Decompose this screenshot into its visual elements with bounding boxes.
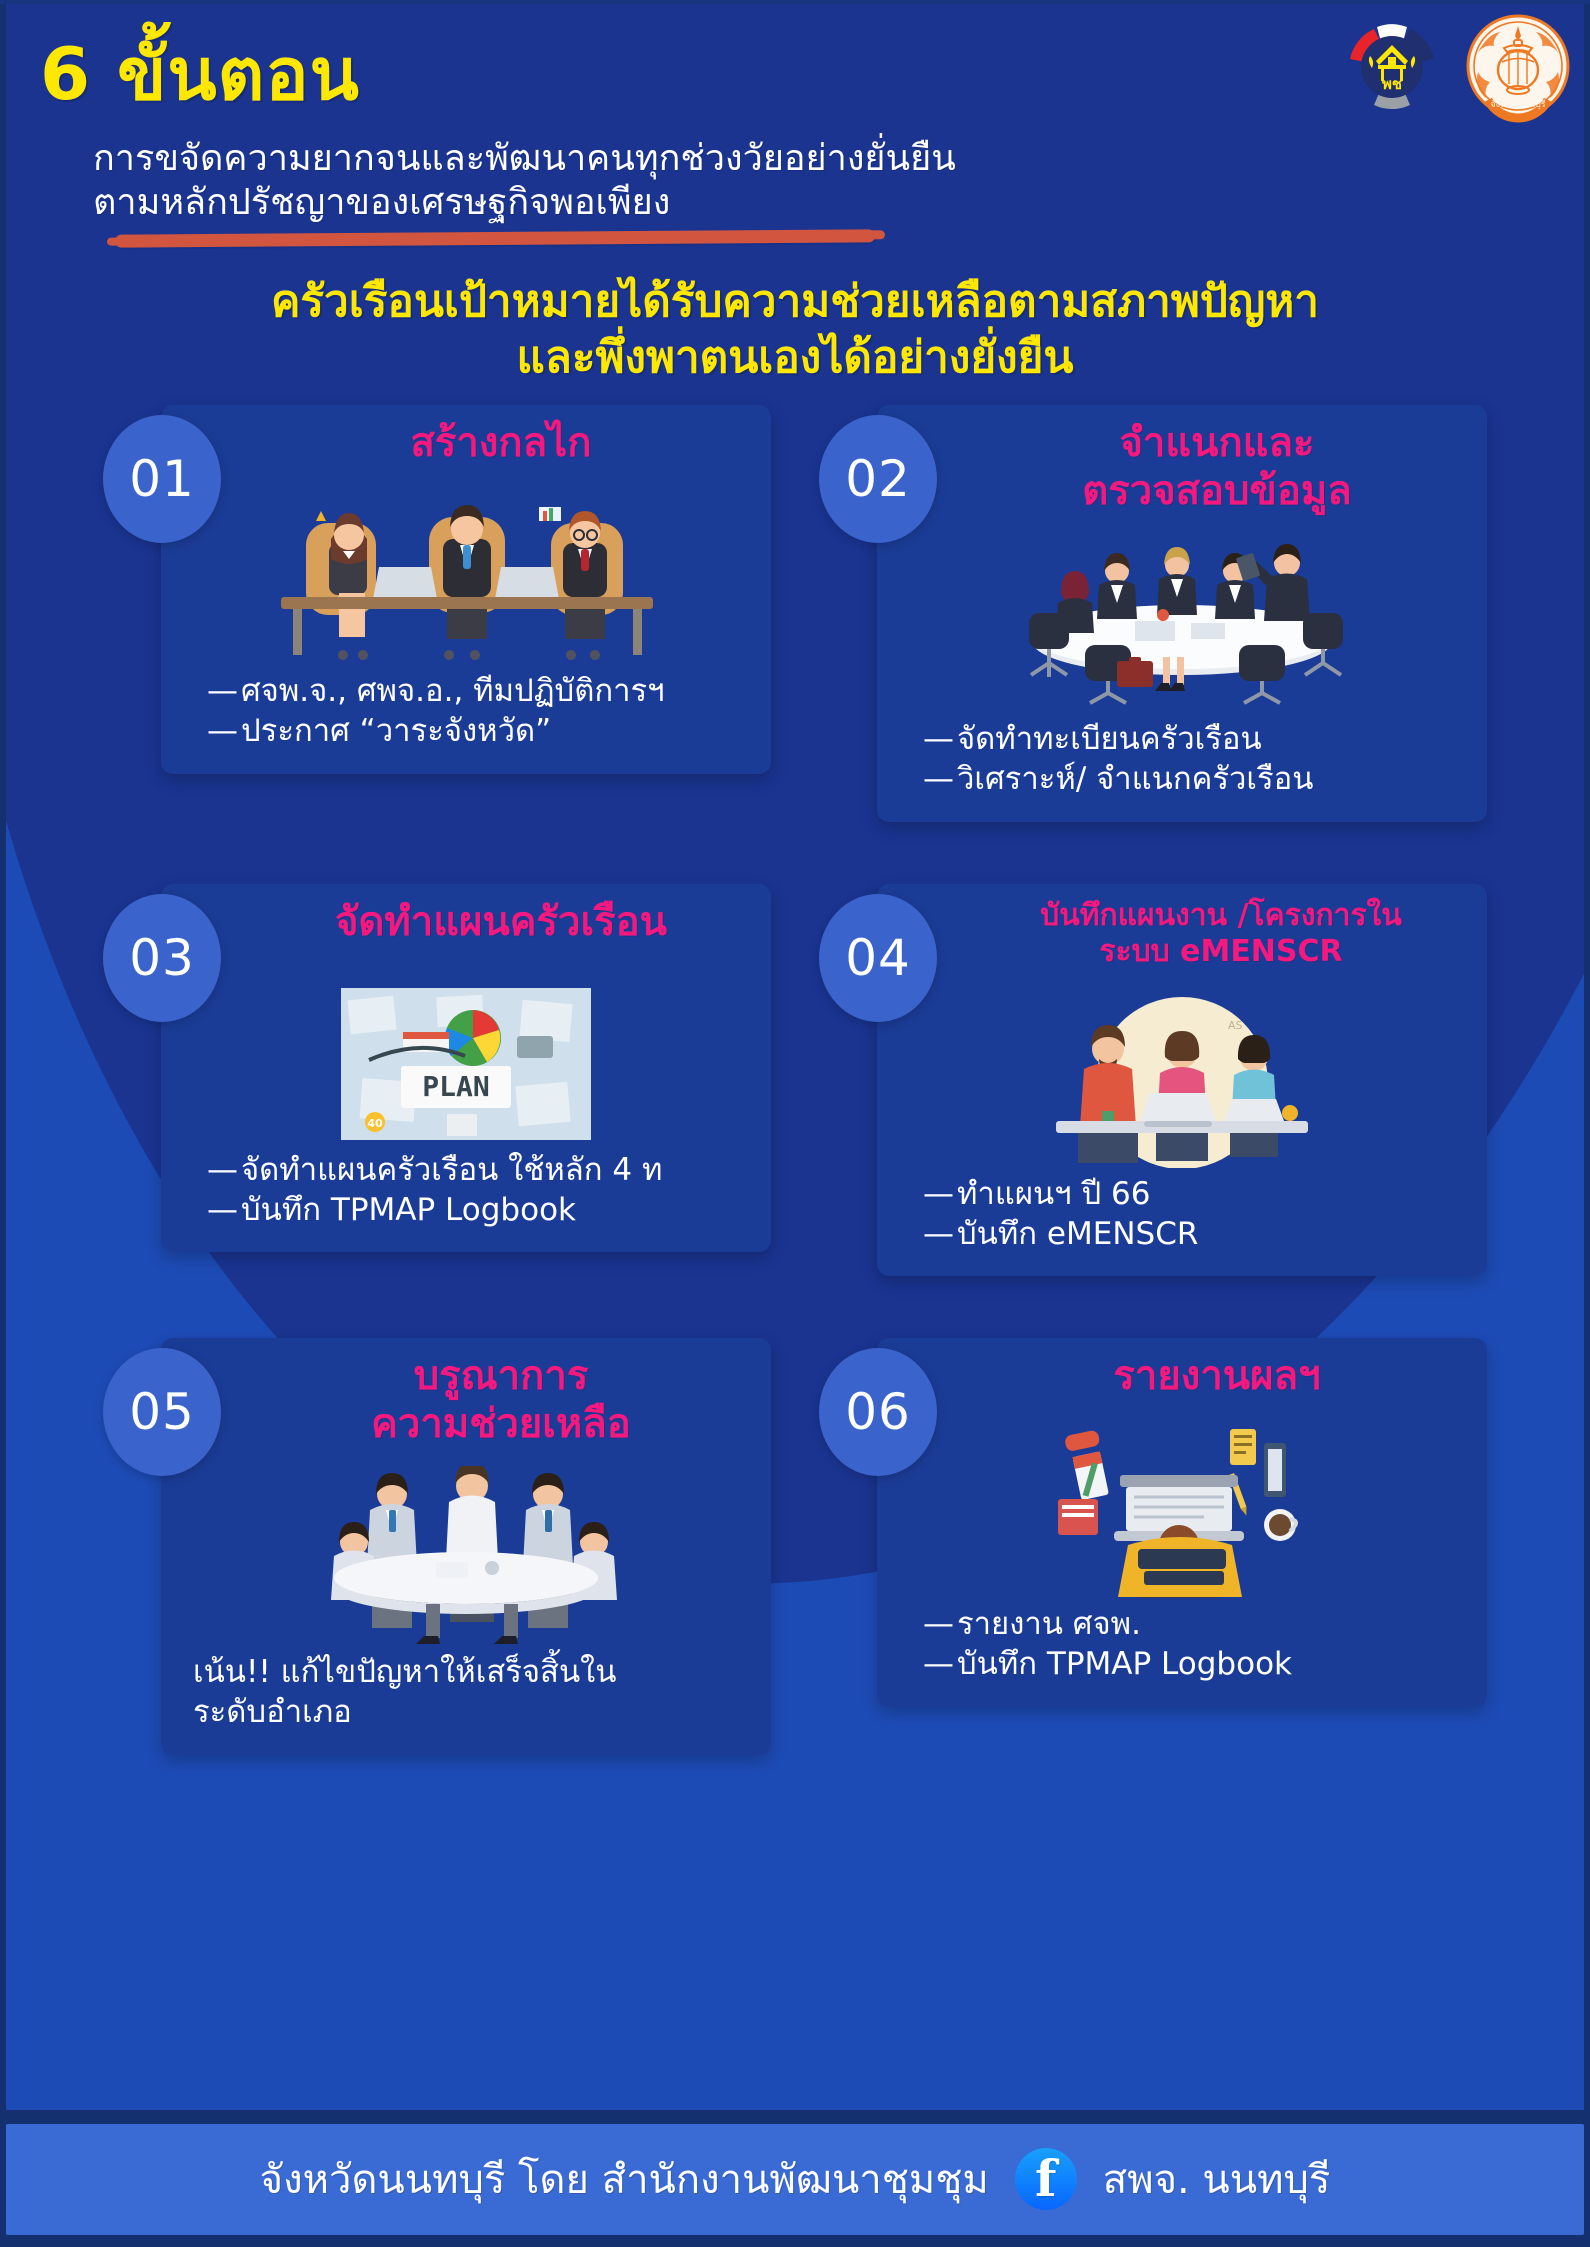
list-item: —วิเศราะห์/ จำแนกครัวเรือน <box>923 759 1471 799</box>
plan-notes-photo: PLAN 40 <box>161 954 771 1144</box>
list-item: —บันทึก TPMAP Logbook <box>207 1190 755 1230</box>
step-title-line-2: ตรวจสอบข้อมูล <box>965 467 1469 515</box>
page-subtitle-line-2: ตามหลักปรัชญาของเศรษฐกิจพอเพียง <box>93 181 956 225</box>
footer: จังหวัดนนทบุรี โดย สำนักงานพัฒนาชุมชุม f… <box>0 2110 1590 2247</box>
svg-text:จังหวัดนนทบุรี: จังหวัดนนทบุรี <box>1490 99 1545 110</box>
steps-row-1: 01 สร้างกลไก <box>0 405 1590 822</box>
step-title: จัดทำแผนครัวเรือน <box>161 884 771 950</box>
step-card-05[interactable]: 05 บรูณาการ ความช่วยเหลือ <box>103 1338 771 1755</box>
step-card-02[interactable]: 02 จำแนกและ ตรวจสอบข้อมูล <box>819 405 1487 822</box>
dash-marker: — <box>207 1150 241 1190</box>
logo-group: พช <box>1338 8 1572 126</box>
step-title-line-2: ระบบ eMENSCR <box>973 934 1469 970</box>
step-bullets: —ศจพ.จ., ศพจ.อ., ทีมปฏิบัติการฯ —ประกาศ … <box>161 665 771 774</box>
svg-text:พช: พช <box>1382 75 1402 93</box>
headline: ครัวเรือนเป้าหมายได้รับความช่วยเหลือตามส… <box>0 274 1590 387</box>
step-number-badge: 04 <box>819 894 937 1022</box>
list-item: —จัดทำแผนครัวเรือน ใช้หลัก 4 ท <box>207 1150 755 1190</box>
step-number-badge: 06 <box>819 1348 937 1476</box>
step-card-04[interactable]: 04 บันทึกแผนงาน /โครงการใน ระบบ eMENSCR <box>819 884 1487 1277</box>
step-number-badge: 05 <box>103 1348 221 1476</box>
bullet-text: วิเศราะห์/ จำแนกครัวเรือน <box>957 761 1314 797</box>
step-bullets: เน้น!! แก้ไขปัญหาให้เสร็จสิ้นใน ระดับอำเ… <box>161 1646 771 1755</box>
infographic-page: 6 ขั้นตอน การขจัดความยากจนและพัฒนาคนทุกช… <box>0 0 1590 2247</box>
step-title: บรูณาการ ความช่วยเหลือ <box>161 1338 771 1452</box>
bullet-text: บันทึก eMENSCR <box>957 1216 1198 1252</box>
step-bullets: —รายงาน ศจพ. —บันทึก TPMAP Logbook <box>877 1598 1487 1707</box>
step-title: รายงานผลฯ <box>877 1338 1487 1404</box>
step-bullets: —จัดทำแผนครัวเรือน ใช้หลัก 4 ท —บันทึก T… <box>161 1144 771 1253</box>
bullet-text: ศจพ.จ., ศพจ.อ., ทีมปฏิบัติการฯ <box>241 673 665 709</box>
steps-row-2: 03 จัดทำแผนครัวเรือน <box>0 884 1590 1277</box>
list-item: —ทำแผนฯ ปี 66 <box>923 1174 1471 1214</box>
list-item: —จัดทำทะเบียนครัวเรือน <box>923 719 1471 759</box>
step-number-badge: 03 <box>103 894 221 1022</box>
step-card-06[interactable]: 06 รายงานผลฯ <box>819 1338 1487 1755</box>
boardroom-team-meeting-illustration <box>877 523 1487 713</box>
list-item: —ประกาศ “วาระจังหวัด” <box>207 711 755 751</box>
bullet-text: บันทึก TPMAP Logbook <box>957 1646 1292 1682</box>
list-item: —บันทึก TPMAP Logbook <box>923 1644 1471 1684</box>
list-item: ระดับอำเภอ <box>193 1692 755 1732</box>
svg-text:PLAN: PLAN <box>422 1070 489 1103</box>
list-item: เน้น!! แก้ไขปัญหาให้เสร็จสิ้นใน <box>193 1652 755 1692</box>
step-number-badge: 02 <box>819 415 937 543</box>
step-bullets: —จัดทำทะเบียนครัวเรือน —วิเศราะห์/ จำแนก… <box>877 713 1487 822</box>
page-title: 6 ขั้นตอน <box>40 38 360 110</box>
desk-with-laptop-and-office-items-illustration <box>877 1408 1487 1598</box>
step-title: บันทึกแผนงาน /โครงการใน ระบบ eMENSCR <box>877 884 1487 974</box>
step-bullets: —ทำแผนฯ ปี 66 —บันทึก eMENSCR <box>877 1168 1487 1277</box>
steps-row-3: 05 บรูณาการ ความช่วยเหลือ <box>0 1338 1590 1755</box>
page-subtitle: การขจัดความยากจนและพัฒนาคนทุกช่วงวัยอย่า… <box>93 137 956 225</box>
ministry-of-interior-community-development-emblem: พช <box>1338 8 1446 126</box>
list-item: —ศจพ.จ., ศพจ.อ., ทีมปฏิบัติการฯ <box>207 671 755 711</box>
step-card-03[interactable]: 03 จัดทำแผนครัวเรือน <box>103 884 771 1277</box>
dash-marker: — <box>923 719 957 759</box>
dash-marker: — <box>923 1214 957 1254</box>
nonthaburi-province-seal: จังหวัดนนทบุรี <box>1464 8 1572 126</box>
dash-marker: — <box>207 1190 241 1230</box>
svg-text:40: 40 <box>367 1117 383 1130</box>
page-subtitle-line-1: การขจัดความยากจนและพัฒนาคนทุกช่วงวัยอย่า… <box>93 137 956 181</box>
step-number-badge: 01 <box>103 415 221 543</box>
headline-line-1: ครัวเรือนเป้าหมายได้รับความช่วยเหลือตามส… <box>0 274 1590 330</box>
footer-organisation-text: จังหวัดนนทบุรี โดย สำนักงานพัฒนาชุมชุม <box>260 2147 989 2211</box>
list-item: —รายงาน ศจพ. <box>923 1604 1471 1644</box>
headline-line-2: และพึ่งพาตนเองได้อย่างยั่งยืน <box>0 330 1590 386</box>
list-item: —บันทึก eMENSCR <box>923 1214 1471 1254</box>
meeting-three-people-at-table-illustration <box>161 475 771 665</box>
step-title: จำแนกและ ตรวจสอบข้อมูล <box>877 405 1487 519</box>
step-title-line-2: ความช่วยเหลือ <box>249 1400 753 1448</box>
step-title-line-1: จำแนกและ <box>965 419 1469 467</box>
dash-marker: — <box>207 711 241 751</box>
step-title-line-1: บรูณาการ <box>249 1352 753 1400</box>
step-card-01[interactable]: 01 สร้างกลไก <box>103 405 771 822</box>
team-working-with-laptops-illustration: AS <box>877 978 1487 1168</box>
dash-marker: — <box>207 671 241 711</box>
dash-marker: — <box>923 1174 957 1214</box>
bullet-text: รายงาน ศจพ. <box>957 1606 1141 1642</box>
facebook-icon[interactable]: f <box>1015 2148 1077 2210</box>
footer-page-name: สพจ. นนทบุรี <box>1103 2147 1331 2211</box>
steps-grid: 01 สร้างกลไก <box>0 405 1590 1817</box>
step-title: สร้างกลไก <box>161 405 771 471</box>
footer-content: จังหวัดนนทบุรี โดย สำนักงานพัฒนาชุมชุม f… <box>260 2147 1331 2211</box>
dash-marker: — <box>923 1604 957 1644</box>
people-standing-around-table-illustration <box>161 1456 771 1646</box>
brush-stroke-divider <box>115 229 875 247</box>
step-title-line-1: บันทึกแผนงาน /โครงการใน <box>973 898 1469 934</box>
bullet-text: จัดทำแผนครัวเรือน ใช้หลัก 4 ท <box>241 1152 662 1188</box>
dash-marker: — <box>923 1644 957 1684</box>
bullet-text: ประกาศ “วาระจังหวัด” <box>241 713 551 749</box>
bullet-text: ทำแผนฯ ปี 66 <box>957 1176 1150 1212</box>
bullet-text: บันทึก TPMAP Logbook <box>241 1192 576 1228</box>
bullet-text: จัดทำทะเบียนครัวเรือน <box>957 721 1262 757</box>
svg-text:AS: AS <box>1228 1019 1243 1032</box>
dash-marker: — <box>923 759 957 799</box>
